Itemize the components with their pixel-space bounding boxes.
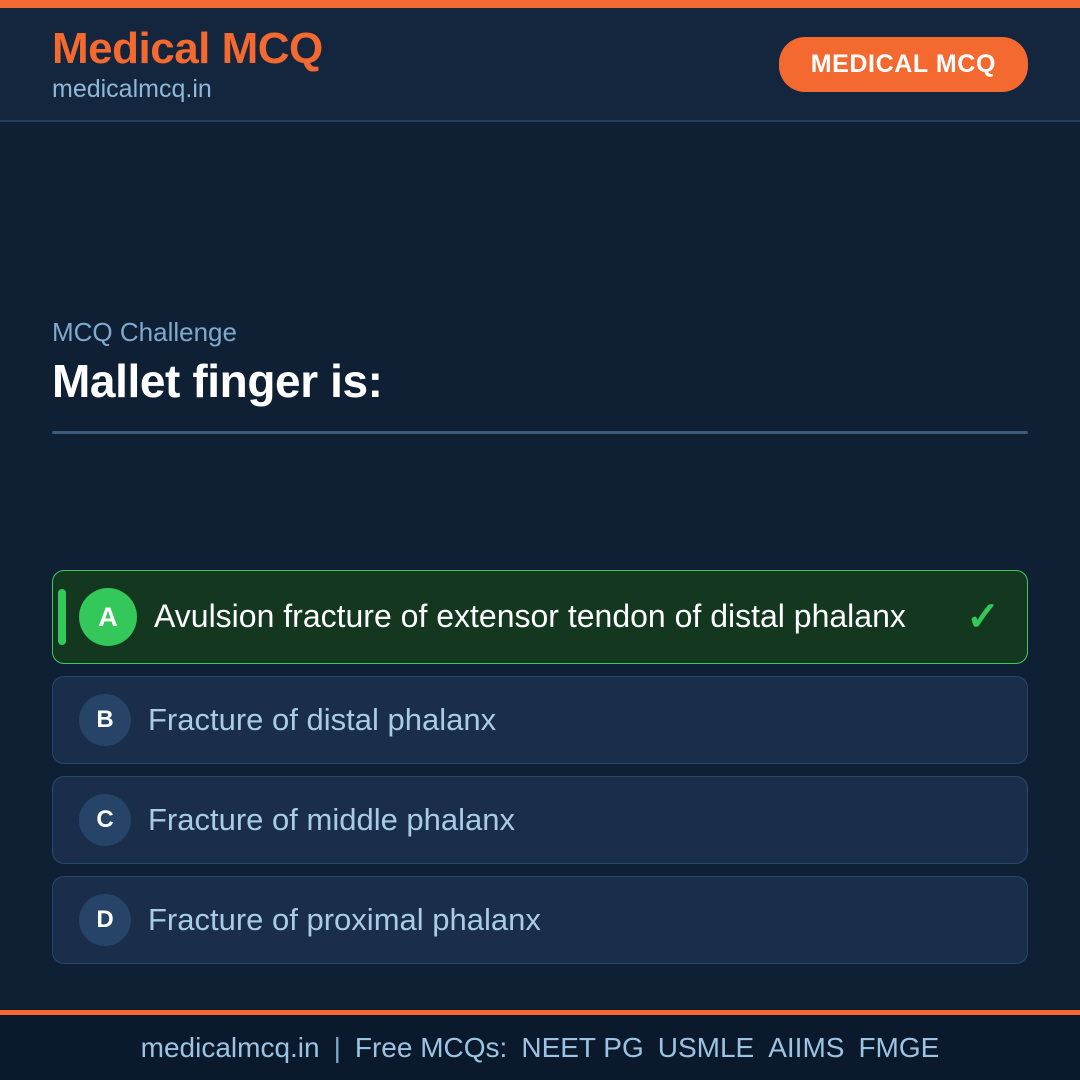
- mcq-card: Medical MCQ medicalmcq.in MEDICAL MCQ MC…: [0, 0, 1080, 1080]
- question-eyebrow: MCQ Challenge: [52, 318, 1028, 347]
- footer-text: medicalmcq.in|Free MCQs:NEET PGUSMLEAIIM…: [141, 1032, 940, 1064]
- footer-bar: medicalmcq.in|Free MCQs:NEET PGUSMLEAIIM…: [0, 1010, 1080, 1080]
- brand: Medical MCQ medicalmcq.in: [52, 27, 323, 102]
- correct-accent-bar: [58, 589, 66, 645]
- option-b-text: Fracture of distal phalanx: [148, 702, 961, 739]
- option-d-text: Fracture of proximal phalanx: [148, 902, 961, 939]
- brand-title: Medical MCQ: [52, 27, 323, 71]
- top-accent-rule: [0, 0, 1080, 8]
- options-list: A Avulsion fracture of extensor tendon o…: [52, 570, 1028, 964]
- question-block: MCQ Challenge Mallet finger is:: [52, 318, 1028, 434]
- main-content: MCQ Challenge Mallet finger is: A Avulsi…: [0, 122, 1080, 1010]
- header-bar: Medical MCQ medicalmcq.in MEDICAL MCQ: [0, 8, 1080, 122]
- option-a[interactable]: A Avulsion fracture of extensor tendon o…: [52, 570, 1028, 664]
- option-a-letter: A: [79, 588, 137, 646]
- option-d-letter: D: [79, 894, 131, 946]
- option-d[interactable]: D Fracture of proximal phalanx: [52, 876, 1028, 964]
- option-c[interactable]: C Fracture of middle phalanx: [52, 776, 1028, 864]
- footer-site[interactable]: medicalmcq.in: [141, 1032, 320, 1063]
- option-c-text: Fracture of middle phalanx: [148, 802, 961, 839]
- question-divider: [52, 431, 1028, 434]
- check-icon: ✓: [961, 597, 1005, 637]
- footer-tag-usmle[interactable]: USMLE: [644, 1032, 754, 1063]
- footer-tag-fmge[interactable]: FMGE: [844, 1032, 939, 1063]
- option-b-letter: B: [79, 694, 131, 746]
- option-c-letter: C: [79, 794, 131, 846]
- question-title: Mallet finger is:: [52, 356, 1028, 408]
- option-a-text: Avulsion fracture of extensor tendon of …: [154, 598, 961, 636]
- footer-tag-aiims[interactable]: AIIMS: [754, 1032, 844, 1063]
- brand-url: medicalmcq.in: [52, 77, 323, 102]
- footer-separator: |: [320, 1032, 355, 1063]
- footer-free-label: Free MCQs:: [355, 1032, 507, 1063]
- footer-tag-neet-pg[interactable]: NEET PG: [507, 1032, 643, 1063]
- header-badge: MEDICAL MCQ: [779, 37, 1028, 92]
- option-b[interactable]: B Fracture of distal phalanx: [52, 676, 1028, 764]
